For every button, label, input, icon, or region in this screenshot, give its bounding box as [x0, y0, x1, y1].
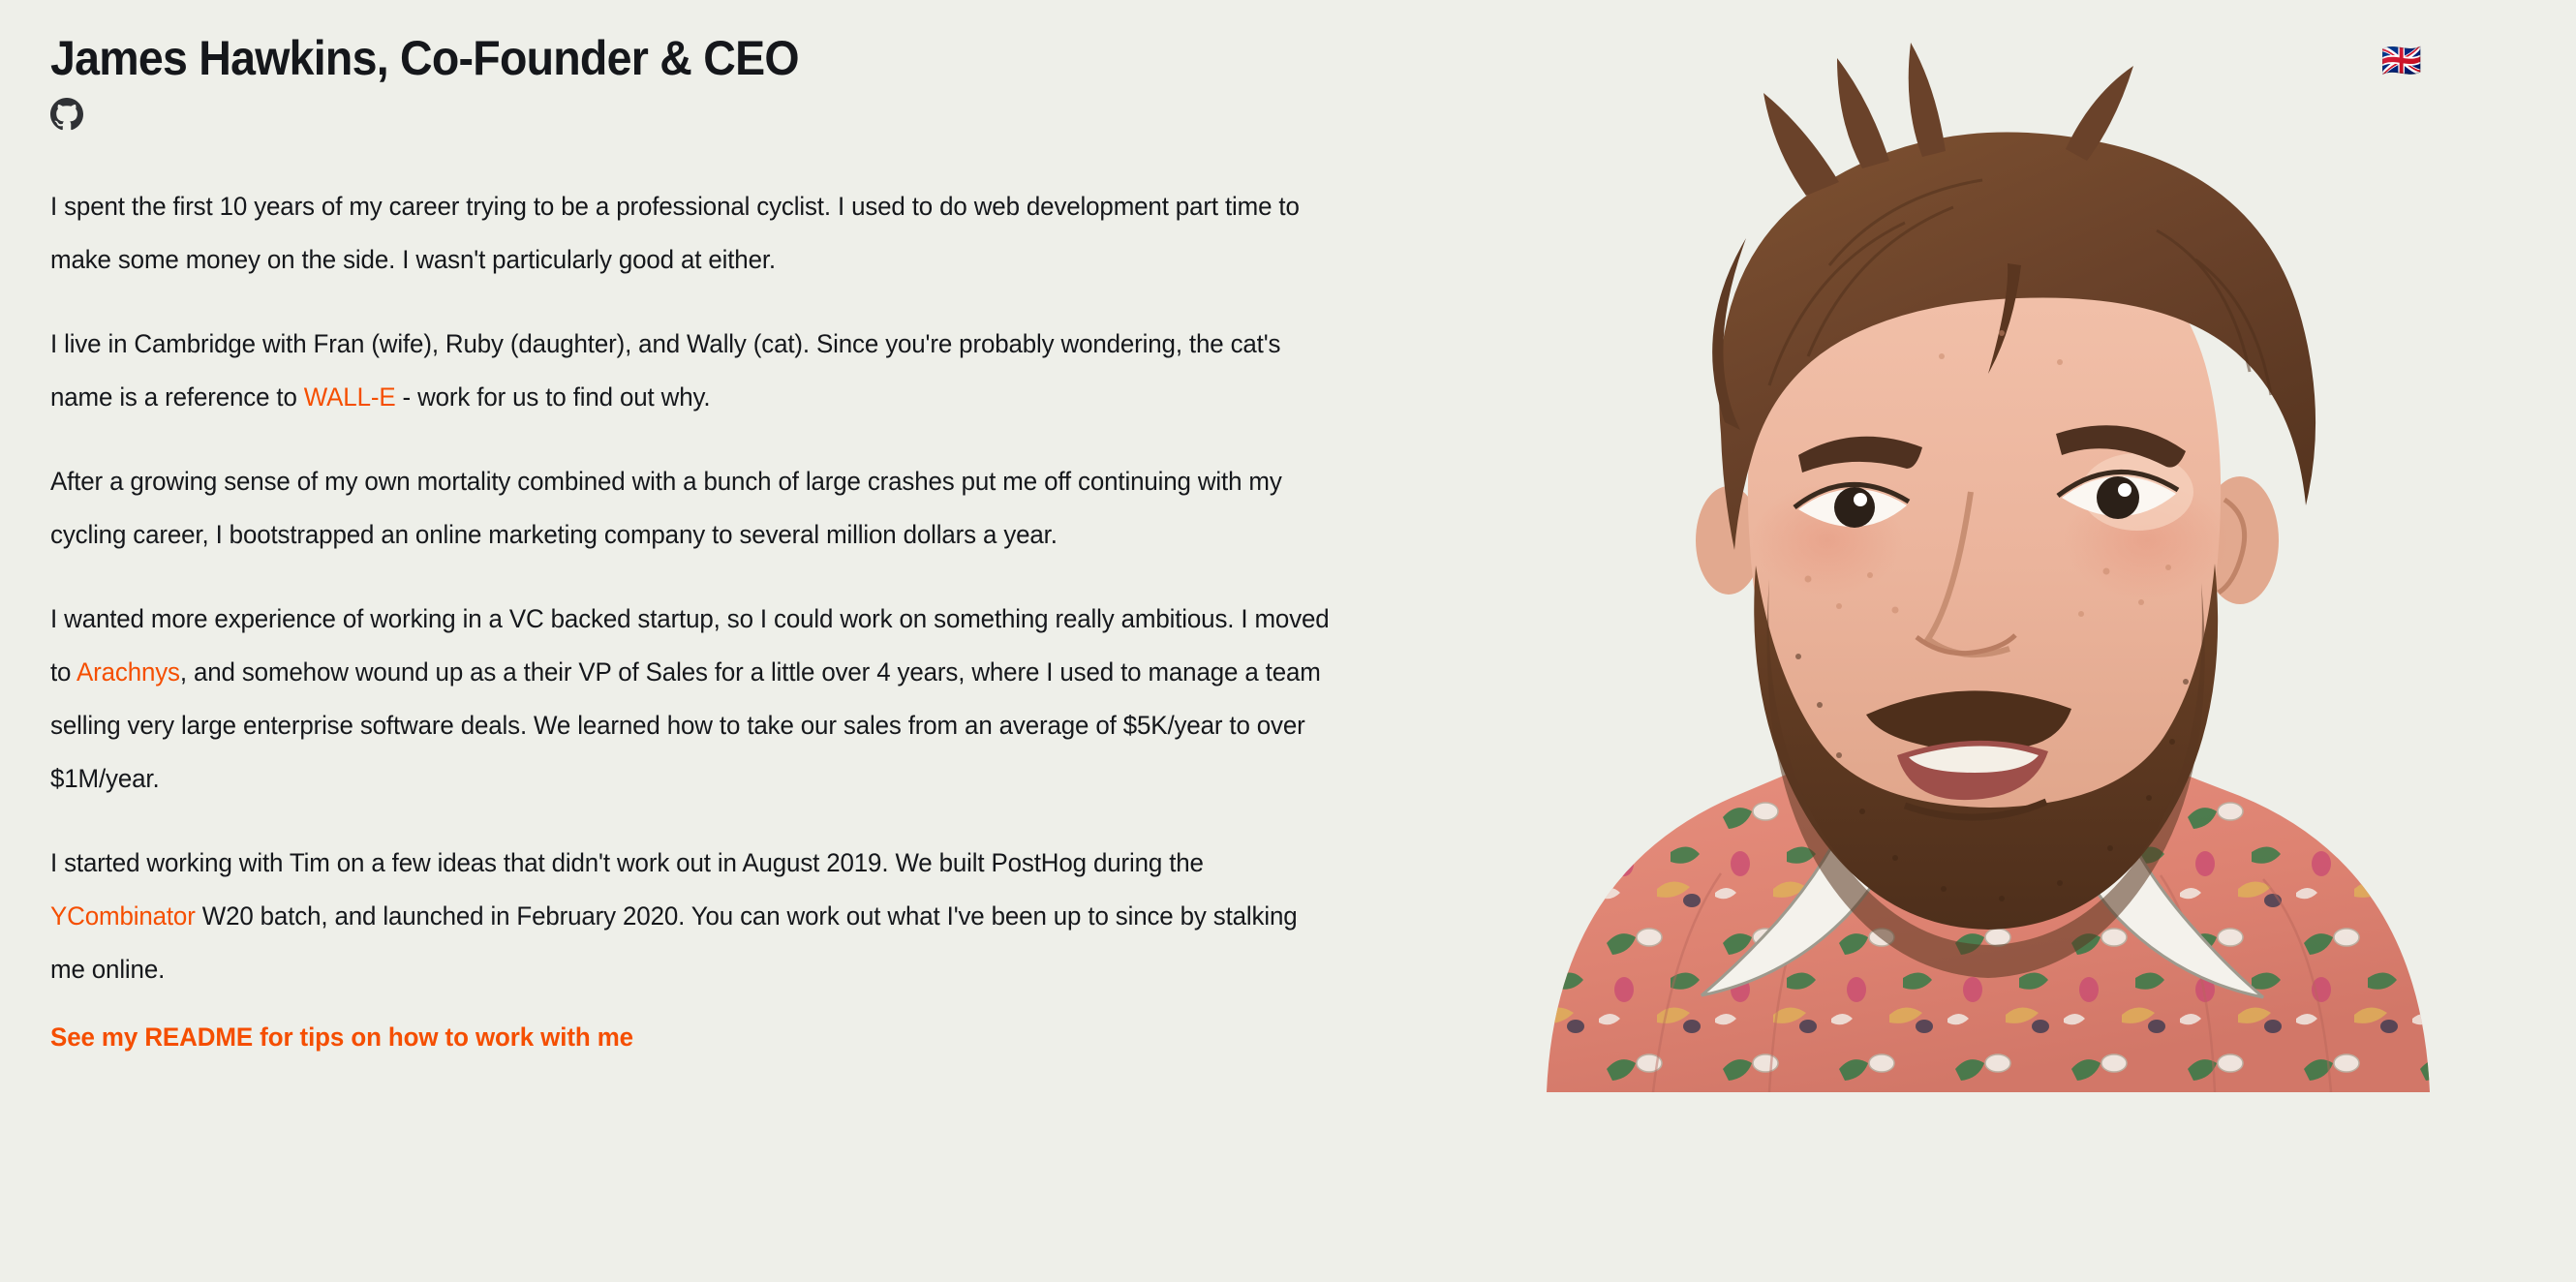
bio-column: James Hawkins, Co-Founder & CEO I spent … — [50, 31, 1387, 1056]
bio-paragraph: I started working with Tim on a few idea… — [50, 837, 1338, 996]
bio-paragraph: I live in Cambridge with Fran (wife), Ru… — [50, 318, 1338, 424]
bio-paragraph: I wanted more experience of working in a… — [50, 593, 1338, 806]
portrait-illustration — [1479, 37, 2498, 1092]
bio-text-segment: W20 batch, and launched in February 2020… — [50, 901, 1297, 984]
bio-paragraph: I spent the first 10 years of my career … — [50, 180, 1338, 287]
portrait-column: 🇬🇧 — [1479, 37, 2498, 1092]
wall-e-link[interactable]: WALL-E — [304, 382, 396, 412]
ycombinator-link[interactable]: YCombinator — [50, 901, 196, 931]
uk-flag-emoji: 🇬🇧 — [2381, 45, 2422, 77]
social-links — [50, 95, 1387, 134]
readme-link[interactable]: See my README for tips on how to work wi… — [50, 1018, 633, 1056]
bio-text-segment: I started working with Tim on a few idea… — [50, 848, 1204, 877]
bio-text-segment: - work for us to find out why. — [395, 382, 710, 412]
arachnys-link[interactable]: Arachnys — [77, 657, 180, 687]
page-title: James Hawkins, Co-Founder & CEO — [50, 31, 1293, 85]
profile-page: James Hawkins, Co-Founder & CEO I spent … — [0, 0, 2576, 1282]
bio-text-segment: , and somehow wound up as a their VP of … — [50, 657, 1321, 793]
bio-text: I spent the first 10 years of my career … — [50, 180, 1348, 1056]
bio-text-segment: I spent the first 10 years of my career … — [50, 192, 1300, 274]
bio-text-segment: After a growing sense of my own mortalit… — [50, 467, 1282, 549]
james-hawkins-portrait — [1479, 37, 2498, 1092]
bio-paragraph: After a growing sense of my own mortalit… — [50, 455, 1338, 562]
github-icon[interactable] — [50, 98, 83, 131]
